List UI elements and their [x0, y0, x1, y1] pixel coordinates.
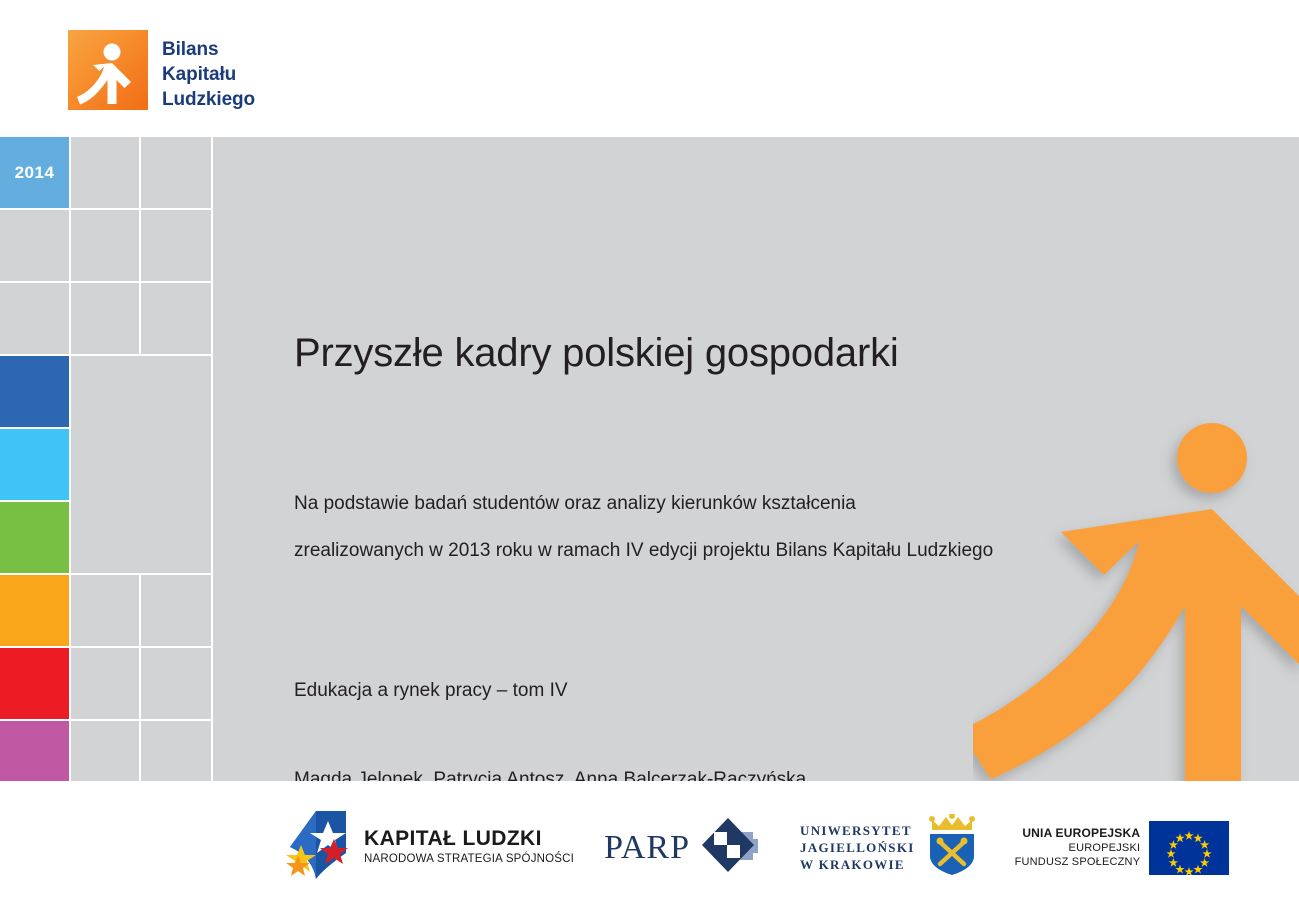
tile-blue-dark [0, 356, 69, 427]
gridline-h-6 [0, 573, 213, 575]
gridline-h-4 [0, 427, 69, 429]
eu-line-2: EUROPEJSKI [1015, 841, 1141, 855]
brand-line-2: Kapitału [162, 62, 255, 87]
eu-line-1: UNIA EUROPEJSKA [1015, 826, 1141, 841]
subtitle-line-1: Na podstawie badań studentów oraz analiz… [294, 480, 993, 527]
logo-unia-europejska: UNIA EUROPEJSKA EUROPEJSKI FUNDUSZ SPOŁE… [1015, 821, 1230, 875]
mosaic-grid: 2014 [0, 137, 213, 781]
tile-cyan [0, 429, 69, 500]
gridline-v-2 [139, 137, 141, 354]
gridline-h-2 [0, 281, 213, 283]
eu-line-3: FUNDUSZ SPOŁECZNY [1015, 855, 1141, 869]
gridline-h-3 [0, 354, 213, 356]
kapital-ludzki-title: KAPITAŁ LUDZKI [364, 828, 574, 850]
gridline-h-1 [0, 208, 213, 210]
logo-uniwersytet-jagiellonski: UNIWERSYTET JAGIELLOŃSKI W KRAKOWIE [800, 814, 980, 881]
tile-red [0, 648, 69, 719]
arrow-person-icon [68, 30, 148, 110]
page-title: Przyszłe kadry polskiej gospodarki [294, 331, 899, 376]
gridline-v-3 [211, 137, 213, 781]
tile-magenta [0, 721, 69, 781]
brand-logo: Bilans Kapitału Ludzkiego [68, 30, 255, 112]
uj-line-3: W KRAKOWIE [800, 856, 915, 873]
tile-orange [0, 575, 69, 646]
kapital-ludzki-subtitle: NARODOWA STRATEGIA SPÓJNOŚCI [364, 852, 574, 867]
uj-line-1: UNIWERSYTET [800, 822, 915, 839]
gridline-h-7 [0, 646, 213, 648]
cover-page: Bilans Kapitału Ludzkiego 2014 [0, 0, 1299, 919]
logo-parp: PARP [604, 816, 762, 879]
tile-gray-c1r3 [0, 283, 69, 354]
parp-wordmark: PARP [604, 829, 690, 867]
kapital-ludzki-stars-icon [280, 809, 352, 886]
tile-year-2014: 2014 [0, 137, 69, 208]
parp-diamond-icon [700, 816, 762, 879]
authors-label: Magda Jelonek, Patrycja Antosz, Anna Bal… [294, 769, 806, 781]
brand-line-1: Bilans [162, 37, 255, 62]
footer-logos: KAPITAŁ LUDZKI NARODOWA STRATEGIA SPÓJNO… [0, 781, 1299, 919]
uj-wordmark: UNIWERSYTET JAGIELLOŃSKI W KRAKOWIE [800, 822, 915, 873]
eu-wordmark: UNIA EUROPEJSKA EUROPEJSKI FUNDUSZ SPOŁE… [1015, 826, 1141, 869]
eu-flag-icon [1149, 821, 1229, 875]
logo-kapital-ludzki: KAPITAŁ LUDZKI NARODOWA STRATEGIA SPÓJNO… [280, 809, 574, 886]
brand-wordmark: Bilans Kapitału Ludzkiego [162, 30, 255, 112]
uj-line-2: JAGIELLOŃSKI [800, 839, 915, 856]
uj-shield-crown-icon [924, 814, 980, 881]
gridline-h-5 [0, 500, 69, 502]
tile-gray-c1r2 [0, 210, 69, 281]
series-label: Edukacja a rynek pracy – tom IV [294, 680, 568, 702]
gridline-v-2b [139, 573, 141, 781]
subtitle-line-2: zrealizowanych w 2013 roku w ramach IV e… [294, 527, 993, 574]
gridline-v-1 [69, 137, 71, 781]
gridline-h-8 [0, 719, 213, 721]
arrow-person-icon [973, 417, 1299, 781]
tile-green [0, 502, 69, 573]
kapital-ludzki-wordmark: KAPITAŁ LUDZKI NARODOWA STRATEGIA SPÓJNO… [364, 828, 574, 867]
subtitle-block: Na podstawie badań studentów oraz analiz… [294, 480, 993, 574]
cover-panel: 2014 Przyszłe kadry polskiej [0, 137, 1299, 781]
page-header: Bilans Kapitału Ludzkiego [0, 0, 1299, 137]
brand-line-3: Ludzkiego [162, 87, 255, 112]
